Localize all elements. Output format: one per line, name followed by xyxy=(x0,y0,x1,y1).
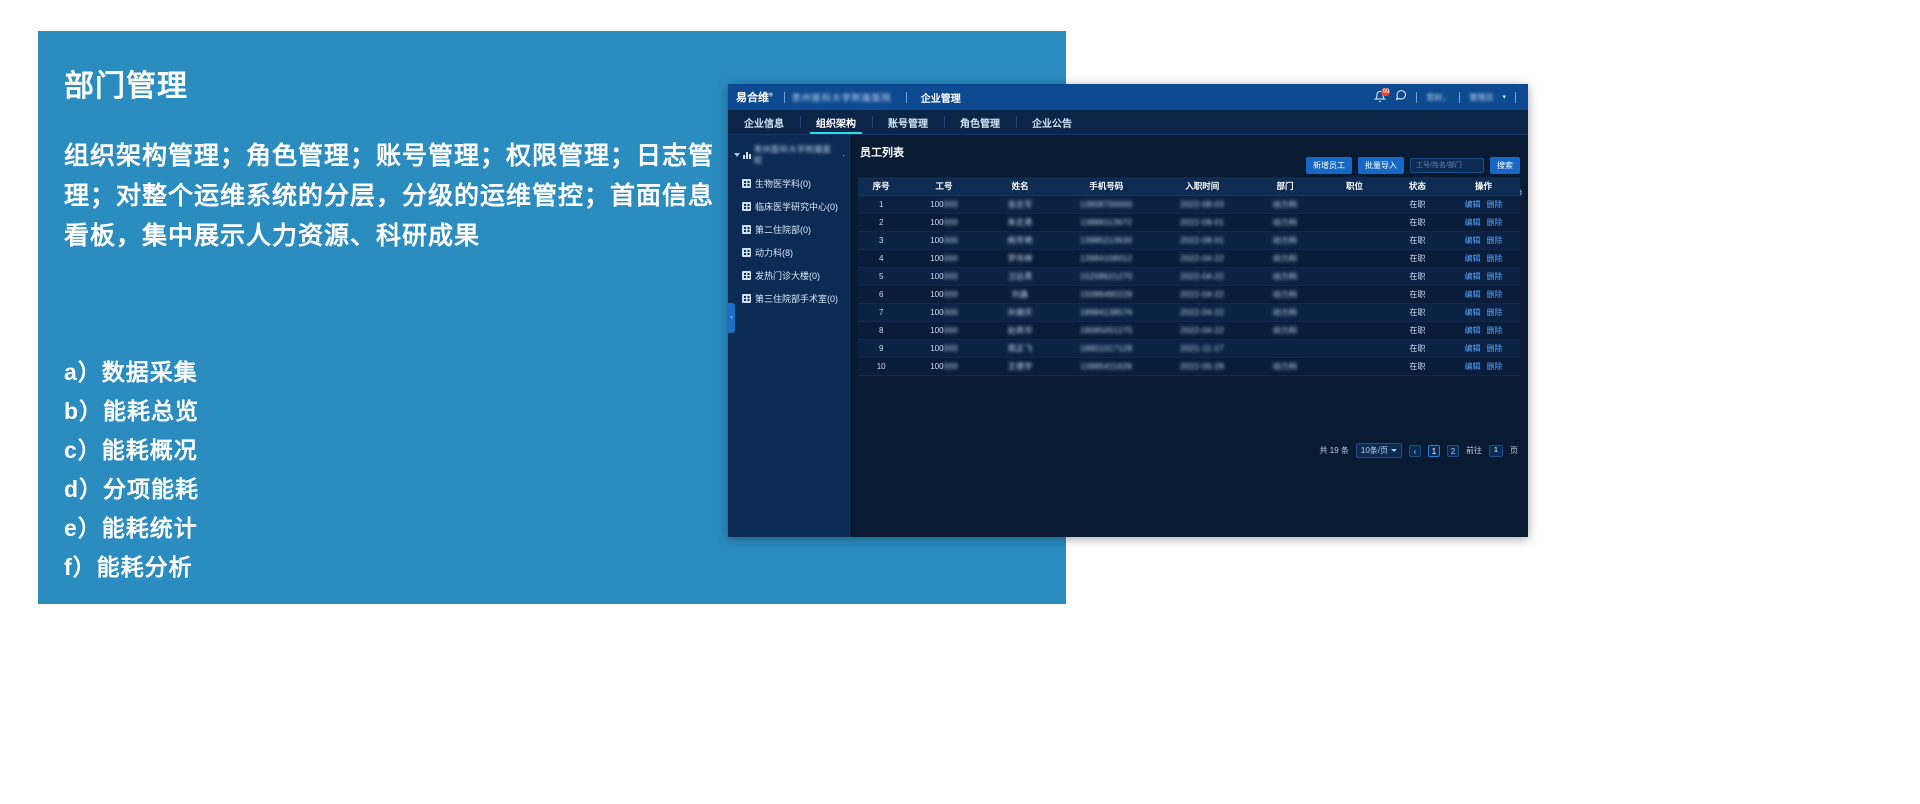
delete-link[interactable]: 删除 xyxy=(1487,236,1503,245)
cell-name: 罗伟林 xyxy=(984,249,1057,267)
goto-label: 前往 xyxy=(1466,445,1482,456)
edit-link[interactable]: 编辑 xyxy=(1465,254,1481,263)
tree-root-more-icon[interactable]: · xyxy=(842,151,845,160)
cell-hire-date: 2022-04-22 xyxy=(1156,285,1249,303)
edit-link[interactable]: 编辑 xyxy=(1465,218,1481,227)
building-icon xyxy=(743,151,751,159)
page-button-2[interactable]: 2 xyxy=(1447,445,1459,457)
list-item: a）数据采集 xyxy=(64,353,714,392)
page-button-1[interactable]: 1 xyxy=(1428,445,1440,457)
header-divider-4 xyxy=(1459,92,1460,103)
cell-name: 王德宇 xyxy=(984,357,1057,375)
cell-name: 张志军 xyxy=(984,195,1057,213)
sidebar-item-clinical-research[interactable]: 临床医学研究中心(0) xyxy=(728,195,849,218)
cell-phone: 15208621270 xyxy=(1057,267,1156,285)
sidebar-item-label: 动力科(8) xyxy=(755,246,793,259)
cell-index: 7 xyxy=(858,303,904,321)
edit-link[interactable]: 编辑 xyxy=(1465,326,1481,335)
status-badge: 在职 xyxy=(1388,321,1448,339)
cell-employee-id: 100000 xyxy=(904,339,983,357)
sidebar-item-second-inpatient[interactable]: 第二住院部(0) xyxy=(728,218,849,241)
cell-department: 动力科 xyxy=(1249,213,1322,231)
delete-link[interactable]: 删除 xyxy=(1487,362,1503,371)
cell-hire-date: 2022-04-22 xyxy=(1156,267,1249,285)
cell-index: 1 xyxy=(858,195,904,213)
col-name: 姓名 xyxy=(984,177,1057,195)
cell-department: 动力科 xyxy=(1249,249,1322,267)
org-tree-sidebar: 贵州医科大学附属医院 · 生物医学科(0) 临床医学研究中心(0) 第二住院部(… xyxy=(728,135,850,537)
notification-bell-icon[interactable]: 99 xyxy=(1374,90,1386,104)
status-badge: 在职 xyxy=(1388,267,1448,285)
cell-position xyxy=(1321,231,1387,249)
list-item: e）能耗统计 xyxy=(64,509,714,548)
cell-department: 动力科 xyxy=(1249,303,1322,321)
col-employee-id: 工号 xyxy=(904,177,983,195)
cell-operations[interactable]: 编辑删除 xyxy=(1447,267,1520,285)
cell-operations[interactable]: 编辑删除 xyxy=(1447,285,1520,303)
caret-down-icon[interactable] xyxy=(734,153,740,157)
edit-link[interactable]: 编辑 xyxy=(1465,308,1481,317)
status-badge: 在职 xyxy=(1388,231,1448,249)
table-header-row: 序号 工号 姓名 手机号码 入职时间 部门 职位 状态 操作 xyxy=(858,177,1520,195)
tab-enterprise-info[interactable]: 企业信息 xyxy=(728,110,800,134)
department-icon xyxy=(742,202,751,211)
cell-employee-id: 100000 xyxy=(904,249,983,267)
goto-page-input[interactable] xyxy=(1489,445,1503,457)
main-content: 员工列表 ⚙ 新增员工 批量导入 搜索 序号 xyxy=(850,135,1528,537)
edit-link[interactable]: 编辑 xyxy=(1465,236,1481,245)
delete-link[interactable]: 删除 xyxy=(1487,326,1503,335)
cell-department: 动力科 xyxy=(1249,195,1322,213)
brand-logo: 易合维® xyxy=(736,89,777,105)
tree-root-node[interactable]: 贵州医科大学附属医院 · xyxy=(728,135,849,172)
table-row[interactable]: 2100000朱志勇138881136722022-08-01动力科在职编辑删除 xyxy=(858,213,1520,231)
cell-operations[interactable]: 编辑删除 xyxy=(1447,195,1520,213)
list-item: b）能耗总览 xyxy=(64,392,714,431)
cell-name: 朱志勇 xyxy=(984,213,1057,231)
edit-link[interactable]: 编辑 xyxy=(1465,200,1481,209)
cell-name: 赵燕华 xyxy=(984,321,1057,339)
cell-index: 6 xyxy=(858,285,904,303)
delete-link[interactable]: 删除 xyxy=(1487,200,1503,209)
cell-phone: 13888113672 xyxy=(1057,213,1156,231)
delete-link[interactable]: 删除 xyxy=(1487,290,1503,299)
edit-link[interactable]: 编辑 xyxy=(1465,290,1481,299)
delete-link[interactable]: 删除 xyxy=(1487,218,1503,227)
department-icon xyxy=(742,271,751,280)
cell-index: 2 xyxy=(858,213,904,231)
cell-phone: 13984108012 xyxy=(1057,249,1156,267)
app-body: 贵州医科大学附属医院 · 生物医学科(0) 临床医学研究中心(0) 第二住院部(… xyxy=(728,135,1528,537)
sidebar-item-biomedical[interactable]: 生物医学科(0) xyxy=(728,172,849,195)
brand-trademark: ® xyxy=(769,92,773,98)
cell-phone: 15086480228 xyxy=(1057,285,1156,303)
goto-unit-label: 页 xyxy=(1510,445,1518,456)
sidebar-item-label: 第二住院部(0) xyxy=(755,223,811,236)
cell-position xyxy=(1321,357,1387,375)
cell-position xyxy=(1321,303,1387,321)
cell-phone: 13808700000 xyxy=(1057,195,1156,213)
table-row[interactable]: 7100000孙建庆189841385762022-04-22动力科在职编辑删除 xyxy=(858,303,1520,321)
cell-operations[interactable]: 编辑删除 xyxy=(1447,321,1520,339)
header-divider-3 xyxy=(1416,92,1417,103)
cell-employee-id: 100000 xyxy=(904,267,983,285)
cell-index: 10 xyxy=(858,357,904,375)
slide-body-text: 组织架构管理；角色管理；账号管理；权限管理；日志管理；对整个运维系统的分层，分级… xyxy=(64,136,714,256)
status-badge: 在职 xyxy=(1388,249,1448,267)
tab-role-management[interactable]: 角色管理 xyxy=(944,110,1016,134)
department-icon xyxy=(742,248,751,257)
cell-hire-date: 2022-04-22 xyxy=(1156,249,1249,267)
cell-index: 5 xyxy=(858,267,904,285)
cell-operations[interactable]: 编辑删除 xyxy=(1447,249,1520,267)
cell-hire-date: 2022-08-01 xyxy=(1156,213,1249,231)
cell-hire-date: 2022-08-01 xyxy=(1156,231,1249,249)
table-row[interactable]: 10100000王德宇139854116282022-05-28动力科在职编辑删… xyxy=(858,357,1520,375)
cell-hire-date: 2022-04-22 xyxy=(1156,303,1249,321)
delete-link[interactable]: 删除 xyxy=(1487,254,1503,263)
header-actions: 99 您好， 管理员 ▾ xyxy=(1374,88,1520,106)
cell-position xyxy=(1321,267,1387,285)
cell-hire-date: 2022-04-22 xyxy=(1156,321,1249,339)
sidebar-item-third-inpatient-or[interactable]: 第三住院部手术室(0) xyxy=(728,287,849,310)
table-row[interactable]: 6100000刘鑫150864802282022-04-22动力科在职编辑删除 xyxy=(858,285,1520,303)
department-icon xyxy=(742,294,751,303)
cell-employee-id: 100000 xyxy=(904,357,983,375)
sidebar-item-label: 第三住院部手术室(0) xyxy=(755,292,838,305)
cell-operations[interactable]: 编辑删除 xyxy=(1447,339,1520,357)
user-name[interactable]: 管理员 xyxy=(1469,92,1493,103)
cell-operations[interactable]: 编辑删除 xyxy=(1447,213,1520,231)
cell-phone: 13985213630 xyxy=(1057,231,1156,249)
delete-link[interactable]: 删除 xyxy=(1487,272,1503,281)
page-size-label: 10条/页 xyxy=(1361,445,1388,456)
cell-employee-id: 100000 xyxy=(904,231,983,249)
cell-phone: 13985411628 xyxy=(1057,357,1156,375)
status-badge: 在职 xyxy=(1388,213,1448,231)
cell-index: 4 xyxy=(858,249,904,267)
slide-title: 部门管理 xyxy=(64,61,188,105)
cell-operations[interactable]: 编辑删除 xyxy=(1447,303,1520,321)
tab-account-management[interactable]: 账号管理 xyxy=(872,110,944,134)
table-row[interactable]: 1100000张志军138087000002022-08-03动力科在职编辑删除 xyxy=(858,195,1520,213)
tree-root-label: 贵州医科大学附属医院 xyxy=(754,144,837,166)
cell-position xyxy=(1321,213,1387,231)
page-size-select[interactable]: 10条/页 xyxy=(1356,443,1402,458)
delete-link[interactable]: 删除 xyxy=(1487,344,1503,353)
tab-bar: 企业信息 组织架构 账号管理 角色管理 企业公告 xyxy=(728,110,1528,135)
pagination: 共 19 条 10条/页 ‹ 1 2 前往 页 xyxy=(1320,443,1518,458)
status-badge: 在职 xyxy=(1388,285,1448,303)
prev-page-button[interactable]: ‹ xyxy=(1409,445,1421,457)
search-button[interactable]: 搜索 xyxy=(1490,157,1520,174)
table-row[interactable]: 3100000杨芳艳139852136302022-08-01动力科在职编辑删除 xyxy=(858,231,1520,249)
delete-link[interactable]: 删除 xyxy=(1487,308,1503,317)
cell-index: 9 xyxy=(858,339,904,357)
user-greeting: 您好， xyxy=(1426,92,1450,103)
cell-position xyxy=(1321,339,1387,357)
slide-canvas: 部门管理 组织架构管理；角色管理；账号管理；权限管理；日志管理；对整个运维系统的… xyxy=(0,0,1920,804)
cell-name: 刘鑫 xyxy=(984,285,1057,303)
cell-phone: 18085051275 xyxy=(1057,321,1156,339)
cell-employee-id: 100000 xyxy=(904,285,983,303)
cell-phone: 18601017128 xyxy=(1057,339,1156,357)
batch-import-button[interactable]: 批量导入 xyxy=(1358,157,1404,174)
header-divider xyxy=(784,92,785,103)
edit-link[interactable]: 编辑 xyxy=(1465,272,1481,281)
table-toolbar: 新增员工 批量导入 搜索 xyxy=(1306,157,1520,174)
total-count-label: 共 19 条 xyxy=(1320,445,1349,456)
cell-department: 动力科 xyxy=(1249,267,1322,285)
edit-link[interactable]: 编辑 xyxy=(1465,362,1481,371)
col-index: 序号 xyxy=(858,177,904,195)
status-badge: 在职 xyxy=(1388,195,1448,213)
cell-department: 动力科 xyxy=(1249,285,1322,303)
app-screenshot-window: 易合维® 贵州医科大学附属医院 企业管理 99 您好 xyxy=(728,84,1528,537)
cell-index: 8 xyxy=(858,321,904,339)
search-input[interactable] xyxy=(1410,158,1484,173)
cell-position xyxy=(1321,285,1387,303)
department-icon xyxy=(742,225,751,234)
cell-name: 孙建庆 xyxy=(984,303,1057,321)
sidebar-item-label: 发热门诊大楼(0) xyxy=(755,269,820,282)
table-row[interactable]: 9100000周正飞186010171282021-11-17在职编辑删除 xyxy=(858,339,1520,357)
header-divider-5 xyxy=(1515,92,1516,103)
table-row[interactable]: 5100000卫远青152086212702022-04-22动力科在职编辑删除 xyxy=(858,267,1520,285)
cell-name: 周正飞 xyxy=(984,339,1057,357)
cell-index: 3 xyxy=(858,231,904,249)
cell-position xyxy=(1321,249,1387,267)
table-body: 1100000张志军138087000002022-08-03动力科在职编辑删除… xyxy=(858,195,1520,375)
slide-feature-list: a）数据采集 b）能耗总览 c）能耗概况 d）分项能耗 e）能耗统计 f）能耗分… xyxy=(64,353,714,587)
list-item: c）能耗概况 xyxy=(64,431,714,470)
chevron-down-icon xyxy=(1391,449,1397,452)
col-department: 部门 xyxy=(1249,177,1322,195)
brand-logo-text: 易合维 xyxy=(736,92,769,104)
list-item: d）分项能耗 xyxy=(64,470,714,509)
cell-position xyxy=(1321,321,1387,339)
hospital-name: 贵州医科大学附属医院 xyxy=(792,91,892,104)
cell-operations[interactable]: 编辑删除 xyxy=(1447,357,1520,375)
status-badge: 在职 xyxy=(1388,357,1448,375)
sidebar-item-label: 临床医学研究中心(0) xyxy=(755,200,838,213)
cell-hire-date: 2022-08-03 xyxy=(1156,195,1249,213)
employee-table: 序号 工号 姓名 手机号码 入职时间 部门 职位 状态 操作 1100000张志… xyxy=(858,177,1520,376)
department-icon xyxy=(742,179,751,188)
col-operations: 操作 xyxy=(1447,177,1520,195)
header-divider-2 xyxy=(906,92,907,103)
cell-department: 动力科 xyxy=(1249,321,1322,339)
sidebar-item-label: 生物医学科(0) xyxy=(755,177,811,190)
cell-employee-id: 100000 xyxy=(904,195,983,213)
status-badge: 在职 xyxy=(1388,339,1448,357)
table-row[interactable]: 8100000赵燕华180850512752022-04-22动力科在职编辑删除 xyxy=(858,321,1520,339)
tab-organization[interactable]: 组织架构 xyxy=(800,110,872,134)
sidebar-item-power-department[interactable]: 动力科(8) xyxy=(728,241,849,264)
cell-phone: 18984138576 xyxy=(1057,303,1156,321)
cell-employee-id: 100000 xyxy=(904,303,983,321)
cell-hire-date: 2022-05-28 xyxy=(1156,357,1249,375)
chevron-down-icon[interactable]: ▾ xyxy=(1502,93,1506,101)
cell-position xyxy=(1321,195,1387,213)
cell-department: 动力科 xyxy=(1249,357,1322,375)
status-badge: 在职 xyxy=(1388,303,1448,321)
cell-operations[interactable]: 编辑删除 xyxy=(1447,231,1520,249)
cell-name: 卫远青 xyxy=(984,267,1057,285)
sidebar-collapse-handle[interactable]: ‹ xyxy=(728,303,735,333)
list-item: f）能耗分析 xyxy=(64,548,714,587)
cell-employee-id: 100000 xyxy=(904,321,983,339)
cell-employee-id: 100000 xyxy=(904,213,983,231)
col-phone: 手机号码 xyxy=(1057,177,1156,195)
message-icon[interactable] xyxy=(1395,88,1407,106)
cell-department: 动力科 xyxy=(1249,231,1322,249)
notification-badge: 99 xyxy=(1381,88,1390,96)
add-employee-button[interactable]: 新增员工 xyxy=(1306,157,1352,174)
app-header: 易合维® 贵州医科大学附属医院 企业管理 99 您好 xyxy=(728,84,1528,110)
cell-hire-date: 2021-11-17 xyxy=(1156,339,1249,357)
module-title: 企业管理 xyxy=(921,90,961,105)
sidebar-item-fever-clinic[interactable]: 发热门诊大楼(0) xyxy=(728,264,849,287)
edit-link[interactable]: 编辑 xyxy=(1465,344,1481,353)
col-hire-date: 入职时间 xyxy=(1156,177,1249,195)
cell-department xyxy=(1249,339,1322,357)
col-position: 职位 xyxy=(1321,177,1387,195)
col-status: 状态 xyxy=(1388,177,1448,195)
tab-announcement[interactable]: 企业公告 xyxy=(1016,110,1088,134)
table-row[interactable]: 4100000罗伟林139841080122022-04-22动力科在职编辑删除 xyxy=(858,249,1520,267)
cell-name: 杨芳艳 xyxy=(984,231,1057,249)
